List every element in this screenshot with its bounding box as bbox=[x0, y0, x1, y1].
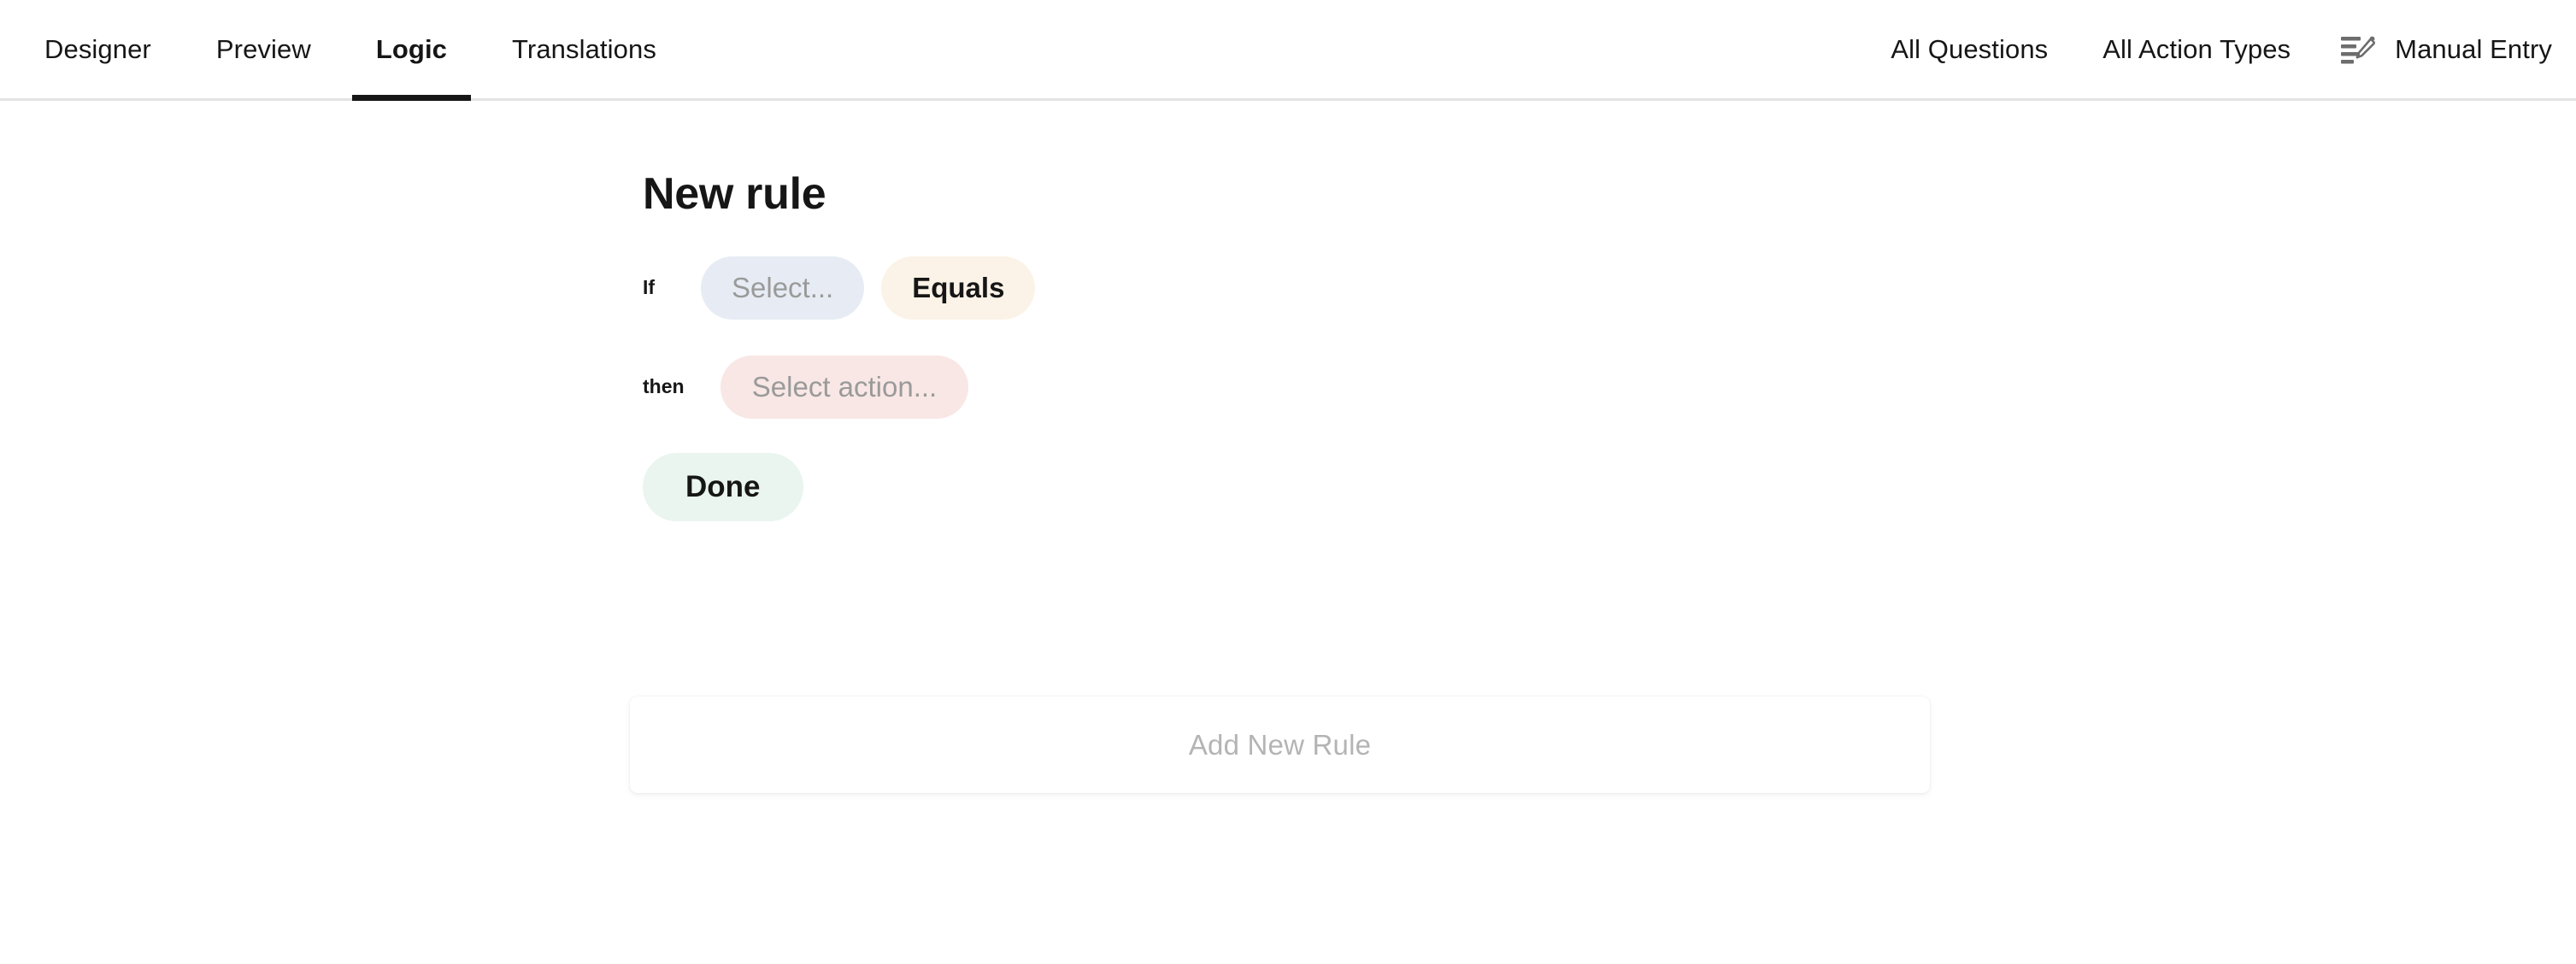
logic-toolbar: All Questions All Action Types Manual En… bbox=[1863, 0, 2576, 98]
add-new-rule-button[interactable]: Add New Rule bbox=[630, 697, 1930, 793]
filter-all-action-types-label: All Action Types bbox=[2103, 34, 2291, 65]
manual-entry-button[interactable]: Manual Entry bbox=[2318, 0, 2552, 98]
done-button[interactable]: Done bbox=[643, 453, 803, 521]
page-title: New rule bbox=[643, 169, 2010, 220]
if-label: If bbox=[643, 278, 671, 297]
action-row: then Select action... bbox=[643, 356, 2010, 419]
filter-all-questions[interactable]: All Questions bbox=[1863, 0, 2075, 98]
then-label: then bbox=[643, 377, 692, 397]
question-selector[interactable]: Select... bbox=[701, 256, 864, 320]
tab-translations-label: Translations bbox=[512, 36, 656, 62]
list-pencil-icon bbox=[2335, 27, 2379, 72]
tab-logic-label: Logic bbox=[376, 36, 447, 62]
tab-logic[interactable]: Logic bbox=[344, 0, 479, 98]
filter-all-action-types[interactable]: All Action Types bbox=[2075, 0, 2318, 98]
tab-preview-label: Preview bbox=[216, 36, 311, 62]
filter-all-questions-label: All Questions bbox=[1891, 34, 2048, 65]
done-row: Done bbox=[643, 453, 2010, 521]
top-tab-bar: Designer Preview Logic Translations All … bbox=[0, 0, 2576, 101]
tab-designer-label: Designer bbox=[44, 36, 151, 62]
tab-translations[interactable]: Translations bbox=[479, 0, 689, 98]
condition-row: If Select... Equals bbox=[643, 256, 2010, 320]
logic-tab-content: New rule If Select... Equals then Select… bbox=[0, 101, 2576, 964]
survey-creator-logic-page: Designer Preview Logic Translations All … bbox=[0, 0, 2576, 964]
add-new-rule-label: Add New Rule bbox=[1189, 731, 1371, 759]
action-selector[interactable]: Select action... bbox=[720, 356, 968, 419]
tab-preview[interactable]: Preview bbox=[184, 0, 344, 98]
primary-tabs: Designer Preview Logic Translations bbox=[0, 0, 689, 98]
operator-selector[interactable]: Equals bbox=[881, 256, 1035, 320]
manual-entry-label: Manual Entry bbox=[2395, 34, 2552, 65]
rule-editor: New rule If Select... Equals then Select… bbox=[643, 169, 2010, 521]
tab-designer[interactable]: Designer bbox=[12, 0, 184, 98]
